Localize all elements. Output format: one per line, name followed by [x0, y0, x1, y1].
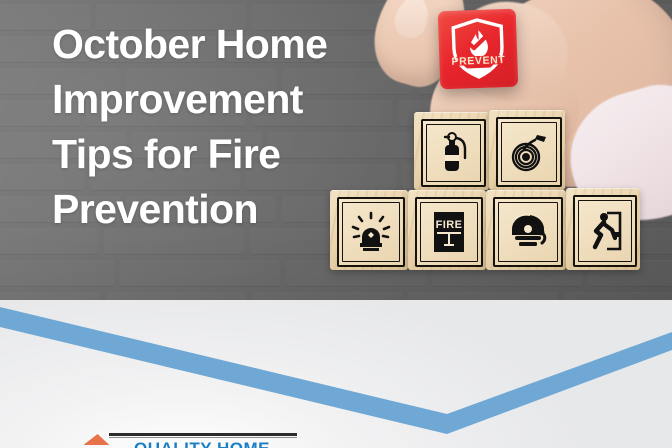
headline-line-2: Improvement [52, 72, 412, 127]
orange-roof-icon [84, 434, 111, 445]
cube-face [421, 119, 487, 187]
cube-emergency-exit [566, 188, 640, 270]
cube-face [573, 195, 638, 266]
promo-graphic-canvas: October Home Improvement Tips for Fire P… [0, 0, 672, 448]
headline-line-4: Prevention [52, 182, 412, 237]
headline-line-3: Tips for Fire [52, 127, 412, 182]
svg-text:PREVENT: PREVENT [451, 54, 505, 68]
emergency-exit-icon [585, 210, 625, 252]
fire-hose-reel-icon [509, 132, 549, 172]
fire-extinguisher-icon [437, 132, 471, 174]
blue-chevron-divider [0, 288, 672, 448]
company-logo[interactable]: QUALITY HOME [84, 428, 324, 448]
fire-alarm-bell-icon [507, 213, 549, 251]
cube-face: FIRE [415, 197, 483, 267]
headline-line-1: October Home [52, 17, 412, 72]
logo-rule [109, 433, 297, 436]
cube-fire-extinguisher [414, 112, 489, 190]
cube-fire-alarm-bell [486, 190, 566, 270]
cube-fire-hose [489, 110, 565, 190]
cube-fire-alarm-pull: FIRE [408, 190, 486, 270]
logo-rule-secondary [109, 437, 297, 438]
logo-brand-text: QUALITY HOME [134, 439, 270, 448]
fire-alarm-pull-icon: FIRE [432, 210, 466, 254]
page-title: October Home Improvement Tips for Fire P… [52, 17, 412, 237]
shield-flame-check-icon: PREVENT [447, 15, 509, 83]
prevent-cube: PREVENT [438, 9, 519, 90]
fire-label: FIRE [436, 219, 463, 231]
cube-face [493, 197, 563, 267]
cube-face [496, 117, 562, 187]
